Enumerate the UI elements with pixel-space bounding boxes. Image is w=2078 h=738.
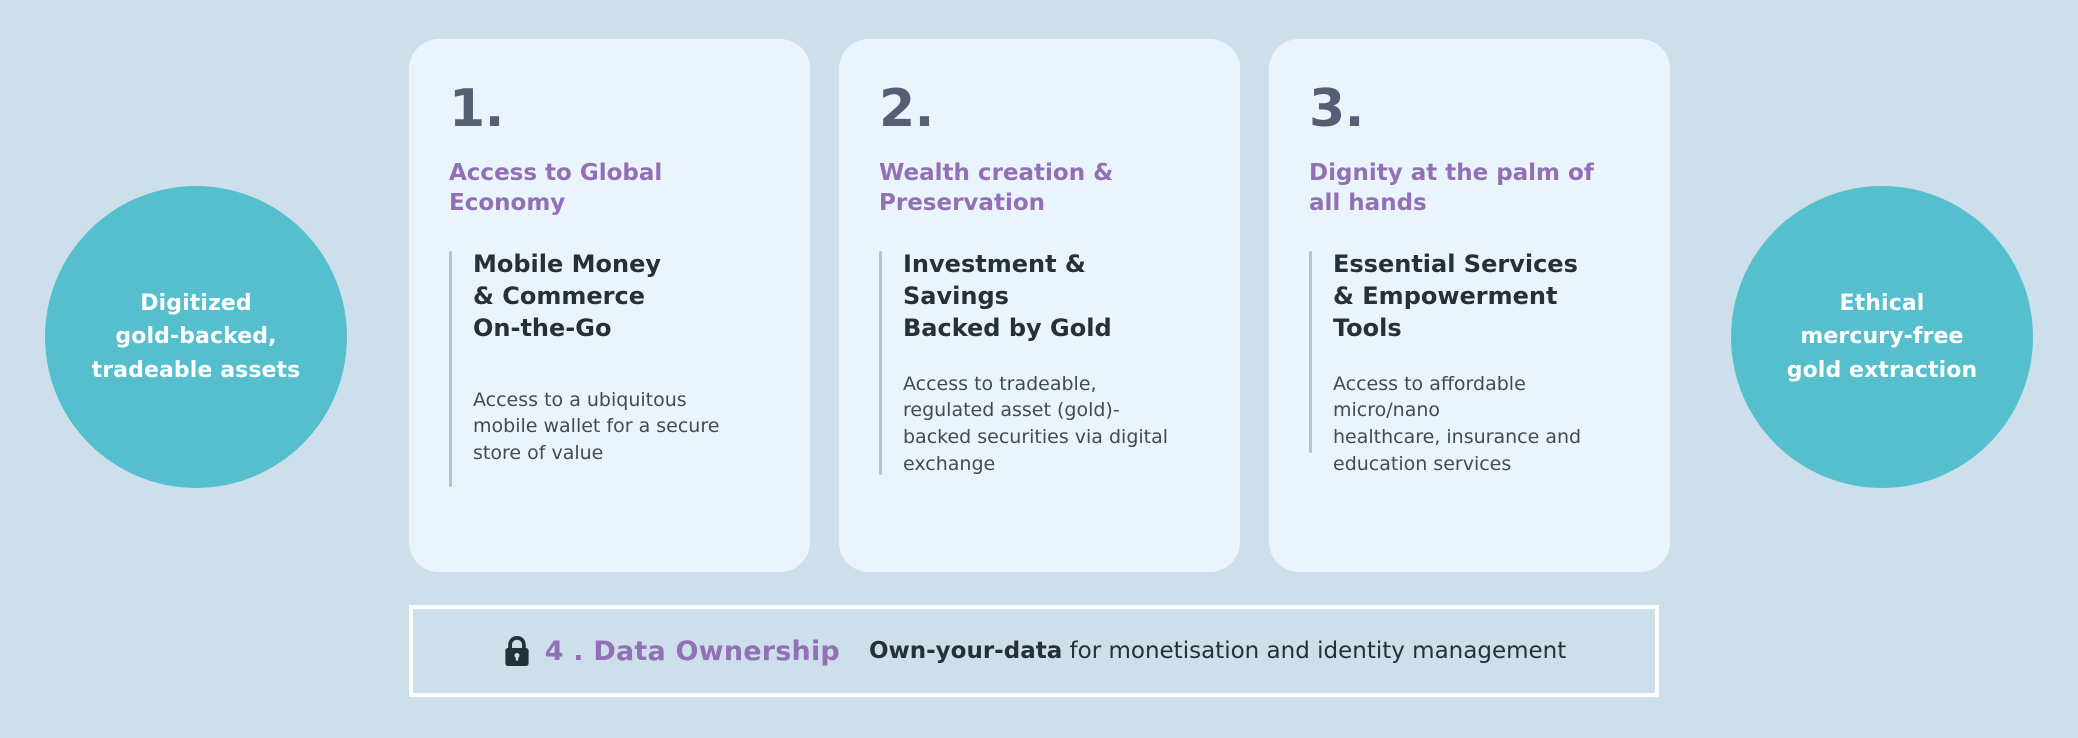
pillar-card-1-kicker: Access to Global Economy — [449, 159, 770, 219]
ethical-extraction-circle-label: Ethical mercury-free gold extraction — [1773, 287, 1992, 387]
pillar-card-3-kicker: Dignity at the palm of all hands — [1309, 159, 1630, 219]
pillar-card-3-title: Essential Services & Empowerment Tools — [1333, 249, 1630, 345]
pillar-card-2-kicker: Wealth creation & Preservation — [879, 159, 1200, 219]
infographic-root: Digitized gold-backed, tradeable assets … — [0, 0, 2078, 738]
pillar-card-2-description: Access to tradeable, regulated asset (go… — [903, 371, 1200, 479]
ethical-extraction-circle: Ethical mercury-free gold extraction — [1731, 186, 2033, 488]
vertical-rule-icon — [879, 251, 882, 475]
data-ownership-rest-phrase: for monetisation and identity management — [1062, 638, 1566, 664]
data-ownership-label: 4 . Data Ownership — [545, 636, 840, 667]
lock-icon — [502, 634, 532, 668]
pillar-card-1-title: Mobile Money & Commerce On-the-Go — [473, 249, 770, 345]
pillar-card-1-body: Mobile Money & Commerce On-the-Go Access… — [449, 249, 770, 468]
pillar-card-2-title: Investment & Savings Backed by Gold — [903, 249, 1200, 345]
pillar-card-3-number: 3. — [1309, 83, 1630, 135]
data-ownership-bold-phrase: Own-your-data — [869, 638, 1062, 664]
pillar-card-2: 2. Wealth creation & Preservation Invest… — [839, 39, 1240, 572]
pillar-card-1: 1. Access to Global Economy Mobile Money… — [409, 39, 810, 572]
pillar-card-3: 3. Dignity at the palm of all hands Esse… — [1269, 39, 1670, 572]
digitized-gold-circle-label: Digitized gold-backed, tradeable assets — [78, 287, 315, 387]
data-ownership-banner: 4 . Data Ownership Own-your-data for mon… — [409, 605, 1659, 697]
pillar-card-2-body: Investment & Savings Backed by Gold Acce… — [879, 249, 1200, 479]
pillar-card-2-number: 2. — [879, 83, 1200, 135]
pillar-cards-row: 1. Access to Global Economy Mobile Money… — [409, 39, 1671, 572]
pillar-card-1-number: 1. — [449, 83, 770, 135]
pillar-card-3-body: Essential Services & Empowerment Tools A… — [1309, 249, 1630, 479]
vertical-rule-icon — [449, 251, 452, 487]
vertical-rule-icon — [1309, 251, 1312, 453]
pillar-card-3-description: Access to affordable micro/nano healthca… — [1333, 371, 1630, 479]
data-ownership-banner-inner: 4 . Data Ownership Own-your-data for mon… — [502, 634, 1567, 668]
pillar-card-1-description: Access to a ubiquitous mobile wallet for… — [473, 387, 770, 468]
digitized-gold-circle: Digitized gold-backed, tradeable assets — [45, 186, 347, 488]
data-ownership-description: Own-your-data for monetisation and ident… — [869, 638, 1566, 664]
